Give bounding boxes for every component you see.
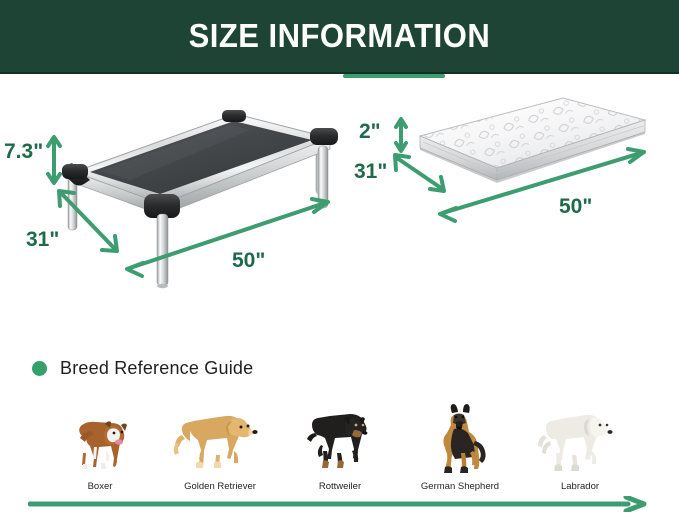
breed-list: Boxer: [40, 396, 640, 492]
breed-label-german-shepherd: German Shepherd: [421, 481, 499, 492]
bed-leg-front-left: [157, 214, 168, 288]
boxer-image: [40, 396, 160, 477]
dog-bed-diagram: 7.3" 31" 50": [0, 76, 345, 346]
product-diagram-area: 7.3" 31" 50": [0, 76, 679, 346]
bed-height-label: 7.3": [4, 140, 43, 164]
golden-retriever-icon: [172, 405, 268, 477]
bed-corner-cap-back: [222, 110, 246, 122]
bed-depth-label: 31": [26, 228, 59, 252]
bed-corner-cap-right: [310, 128, 338, 145]
labrador-icon: [534, 405, 626, 477]
page-title: SIZE INFORMATION: [189, 17, 491, 55]
german-shepherd-icon: [421, 403, 499, 477]
header-banner: SIZE INFORMATION: [0, 0, 679, 74]
breed-label-rottweiler: Rottweiler: [319, 481, 361, 492]
breed-guide-heading: Breed Reference Guide: [60, 358, 253, 379]
breed-item-boxer: Boxer: [40, 396, 160, 492]
pad-height-label: 2": [359, 120, 381, 144]
pad-depth-arrow-line: [397, 158, 441, 188]
breed-guide-header: Breed Reference Guide: [32, 358, 253, 379]
breed-label-golden-retriever: Golden Retriever: [184, 481, 256, 492]
pad-width-label: 50": [559, 195, 592, 219]
breed-label-boxer: Boxer: [88, 481, 113, 492]
breed-item-rottweiler: Rottweiler: [280, 396, 400, 492]
boxer-icon: [61, 405, 139, 477]
breed-label-labrador: Labrador: [561, 481, 599, 492]
pad-depth-label: 31": [354, 160, 387, 184]
bed-corner-cap-left: [62, 163, 90, 186]
breed-item-golden-retriever: Golden Retriever: [160, 396, 280, 492]
breed-item-german-shepherd: German Shepherd: [400, 396, 520, 492]
golden-retriever-image: [160, 396, 280, 477]
mattress-pad-illustration: [345, 76, 679, 346]
rottweiler-image: [280, 396, 400, 477]
size-progression-arrow: [28, 496, 652, 512]
german-shepherd-image: [400, 396, 520, 477]
rottweiler-icon: [297, 405, 383, 477]
labrador-image: [520, 396, 640, 477]
mattress-pad-diagram: 2" 31" 50": [345, 76, 679, 346]
bullet-dot-icon: [32, 361, 47, 376]
bed-width-label: 50": [232, 249, 265, 273]
dog-bed-illustration: [0, 76, 345, 346]
breed-item-labrador: Labrador: [520, 396, 640, 492]
